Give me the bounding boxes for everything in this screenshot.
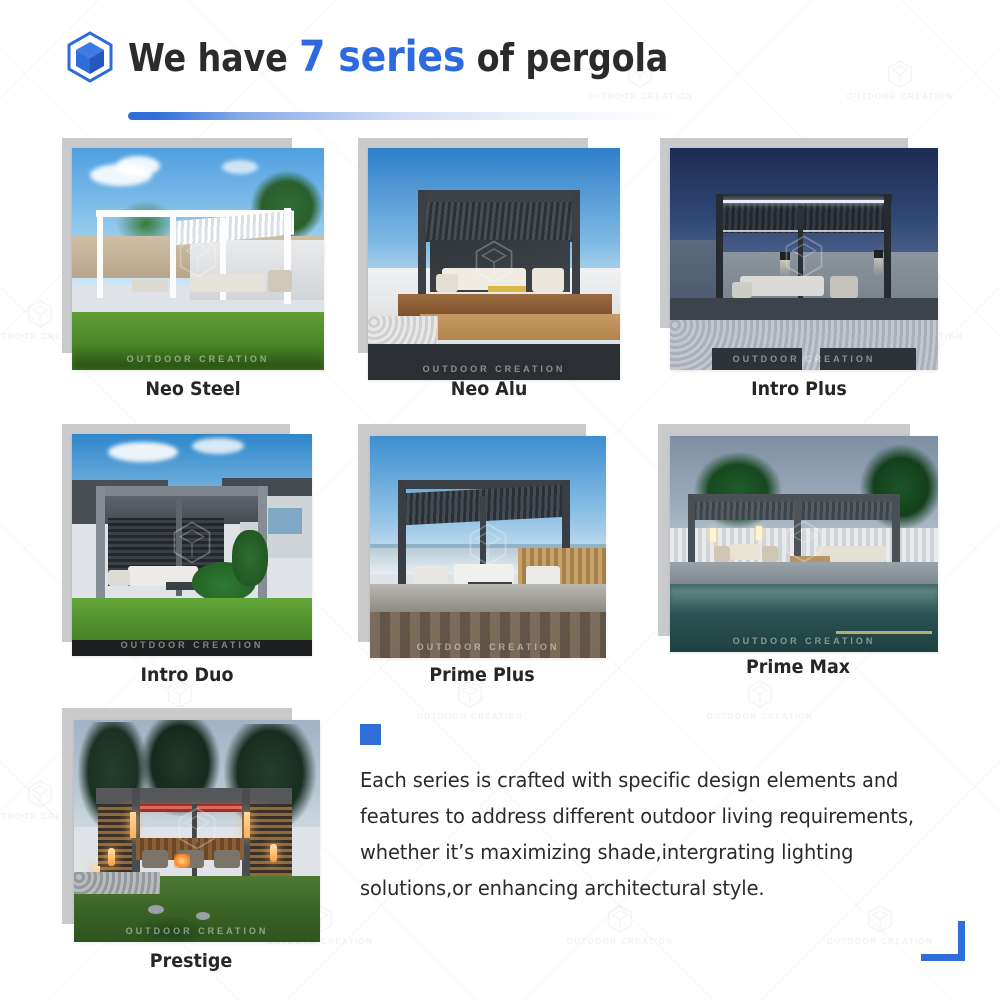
series-caption: Intro Plus — [671, 378, 927, 400]
series-caption: Neo Steel — [72, 378, 313, 400]
series-caption: Intro Duo — [72, 664, 302, 686]
page-title: We have 7 series of pergola — [128, 36, 668, 79]
series-photo[interactable]: OUTDOOR CREATION — [72, 148, 324, 370]
series-card-prime-max[interactable]: OUTDOOR CREATION Prime Max — [658, 424, 938, 689]
description-bullet — [360, 724, 381, 745]
series-caption: Prime Plus — [368, 664, 596, 686]
title-part-2: of pergola — [465, 36, 668, 80]
title-underline-bar — [128, 112, 686, 120]
series-photo[interactable]: OUTDOOR CREATION — [72, 434, 312, 656]
series-card-intro-plus[interactable]: OUTDOOR CREATION Intro Plus — [660, 138, 938, 403]
series-photo[interactable]: OUTDOOR CREATION — [368, 148, 620, 380]
series-card-prestige[interactable]: OUTDOOR CREATION Prestige — [62, 708, 320, 973]
title-highlight: 7 series — [299, 32, 465, 82]
series-caption: Neo Alu — [368, 378, 609, 400]
series-card-neo-alu[interactable]: OUTDOOR CREATION Neo Alu — [358, 138, 620, 403]
pergola-series-page: We have 7 series of pergola — [0, 0, 1000, 1000]
series-photo[interactable]: OUTDOOR CREATION — [74, 720, 320, 942]
series-caption: Prime Max — [669, 656, 927, 678]
corner-bracket — [921, 921, 965, 961]
corner-bracket-horizontal — [921, 954, 965, 961]
series-card-neo-steel[interactable]: OUTDOOR CREATION Neo Steel — [62, 138, 324, 403]
series-photo[interactable]: OUTDOOR CREATION — [670, 148, 938, 370]
series-caption: Prestige — [72, 950, 309, 972]
title-part-1: We have — [128, 36, 299, 80]
series-card-intro-duo[interactable]: OUTDOOR CREATION Intro Duo — [62, 424, 312, 689]
series-photo[interactable]: OUTDOOR CREATION — [370, 436, 606, 658]
page-header: We have 7 series of pergola — [66, 26, 946, 106]
description-text: Each series is crafted with specific des… — [360, 762, 942, 906]
series-card-prime-plus[interactable]: OUTDOOR CREATION Prime Plus — [358, 424, 606, 689]
series-photo[interactable]: OUTDOOR CREATION — [670, 436, 938, 652]
hexagon-cube-icon — [66, 31, 114, 83]
